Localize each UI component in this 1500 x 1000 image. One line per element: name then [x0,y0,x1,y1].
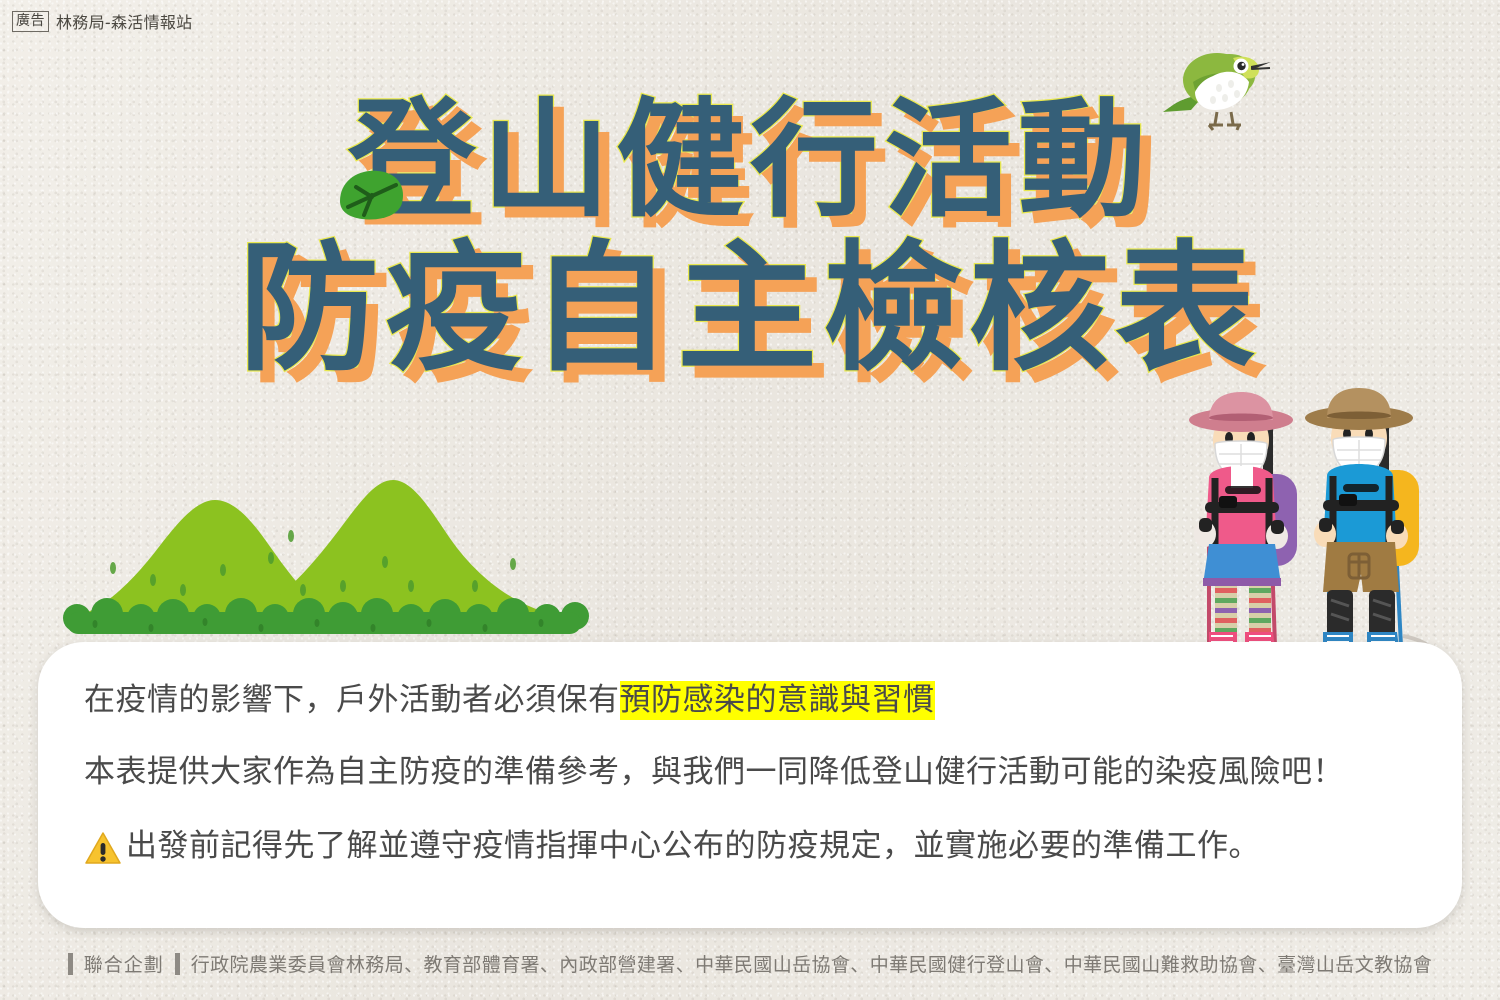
ad-account-label: 林務局-森活情報站 [56,9,192,33]
green-leaf-icon [334,165,408,223]
ad-tag: 廣告 林務局-森活情報站 [12,9,192,33]
footer-key-label: 聯合企劃 [84,950,164,977]
poster-canvas: 廣告 林務局-森活情報站 登山 [0,0,1500,1000]
para3-text: 出發前記得先了解並遵守疫情指揮中心公布的防疫規定，並實施必要的準備工作。 [126,824,1260,870]
footer-bar-left [68,953,73,975]
title-line-1: 登山健行活動 [0,92,1500,230]
footer-credits: 聯合企劃 行政院農業委員會林務局、教育部體育署、內政部營建署、中華民國山岳協會、… [0,950,1500,977]
para1-lead: 在疫情的影響下，戶外活動者必須保有 [84,682,620,718]
two-masked-hikers-illustration [1175,378,1475,668]
green-mountains-illustration [55,440,615,640]
card-paragraph-1: 在疫情的影響下，戶外活動者必須保有預防感染的意識與習慣 [84,678,1416,724]
warning-triangle-icon [84,830,122,868]
title-line-2: 防疫自主檢核表 [0,234,1500,385]
card-paragraph-3: 出發前記得先了解並遵守疫情指揮中心公布的防疫規定，並實施必要的準備工作。 [84,824,1416,870]
ad-badge: 廣告 [12,11,49,32]
info-card: 在疫情的影響下，戶外活動者必須保有預防感染的意識與習慣 本表提供大家作為自主防疫… [38,642,1462,928]
poster-title: 登山健行活動 防疫自主檢核表 [0,92,1500,385]
para1-highlight: 預防感染的意識與習慣 [620,681,935,720]
green-white-eye-bird-icon [1155,24,1275,134]
footer-bar-right [175,953,180,975]
card-paragraph-2: 本表提供大家作為自主防疫的準備參考，與我們一同降低登山健行活動可能的染疫風險吧！ [84,750,1416,796]
footer-organizations: 行政院農業委員會林務局、教育部體育署、內政部營建署、中華民國山岳協會、中華民國健… [191,950,1433,977]
